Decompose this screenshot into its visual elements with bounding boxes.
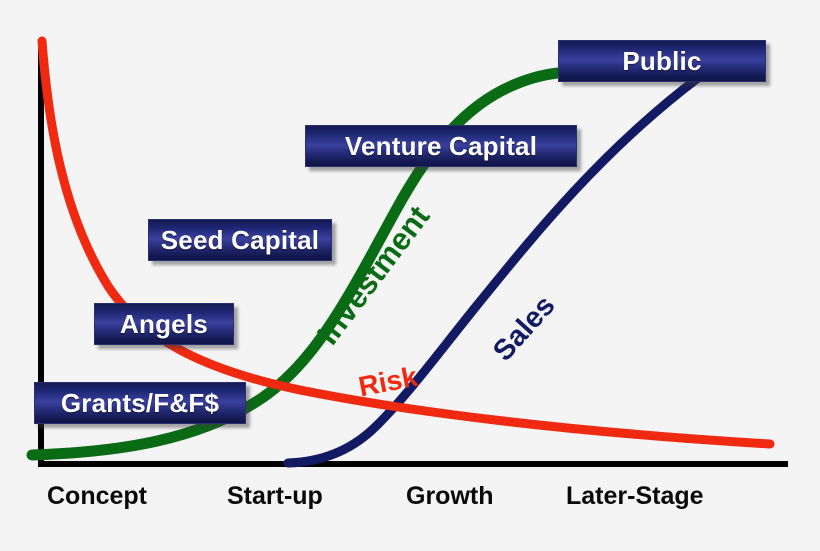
funding-lifecycle-diagram: Grants/F&F$ Angels Seed Capital Venture … — [0, 0, 820, 551]
axis-label-later-stage: Later-Stage — [566, 482, 704, 511]
axis-label-concept: Concept — [47, 482, 147, 511]
axis-label-growth: Growth — [406, 482, 494, 511]
plaque-angels[interactable]: Angels — [94, 303, 234, 345]
plaque-public[interactable]: Public — [558, 40, 766, 82]
plaque-angels-label: Angels — [120, 309, 208, 340]
plaque-seed-capital[interactable]: Seed Capital — [148, 219, 332, 261]
plaque-venture-capital-label: Venture Capital — [345, 131, 537, 162]
plaque-seed-capital-label: Seed Capital — [161, 225, 319, 256]
chart-canvas — [0, 0, 820, 551]
axis-label-startup: Start-up — [227, 482, 323, 511]
plaque-grants[interactable]: Grants/F&F$ — [34, 382, 246, 424]
plaque-venture-capital[interactable]: Venture Capital — [305, 125, 577, 167]
plaque-public-label: Public — [622, 46, 701, 77]
plaque-grants-label: Grants/F&F$ — [61, 388, 219, 419]
